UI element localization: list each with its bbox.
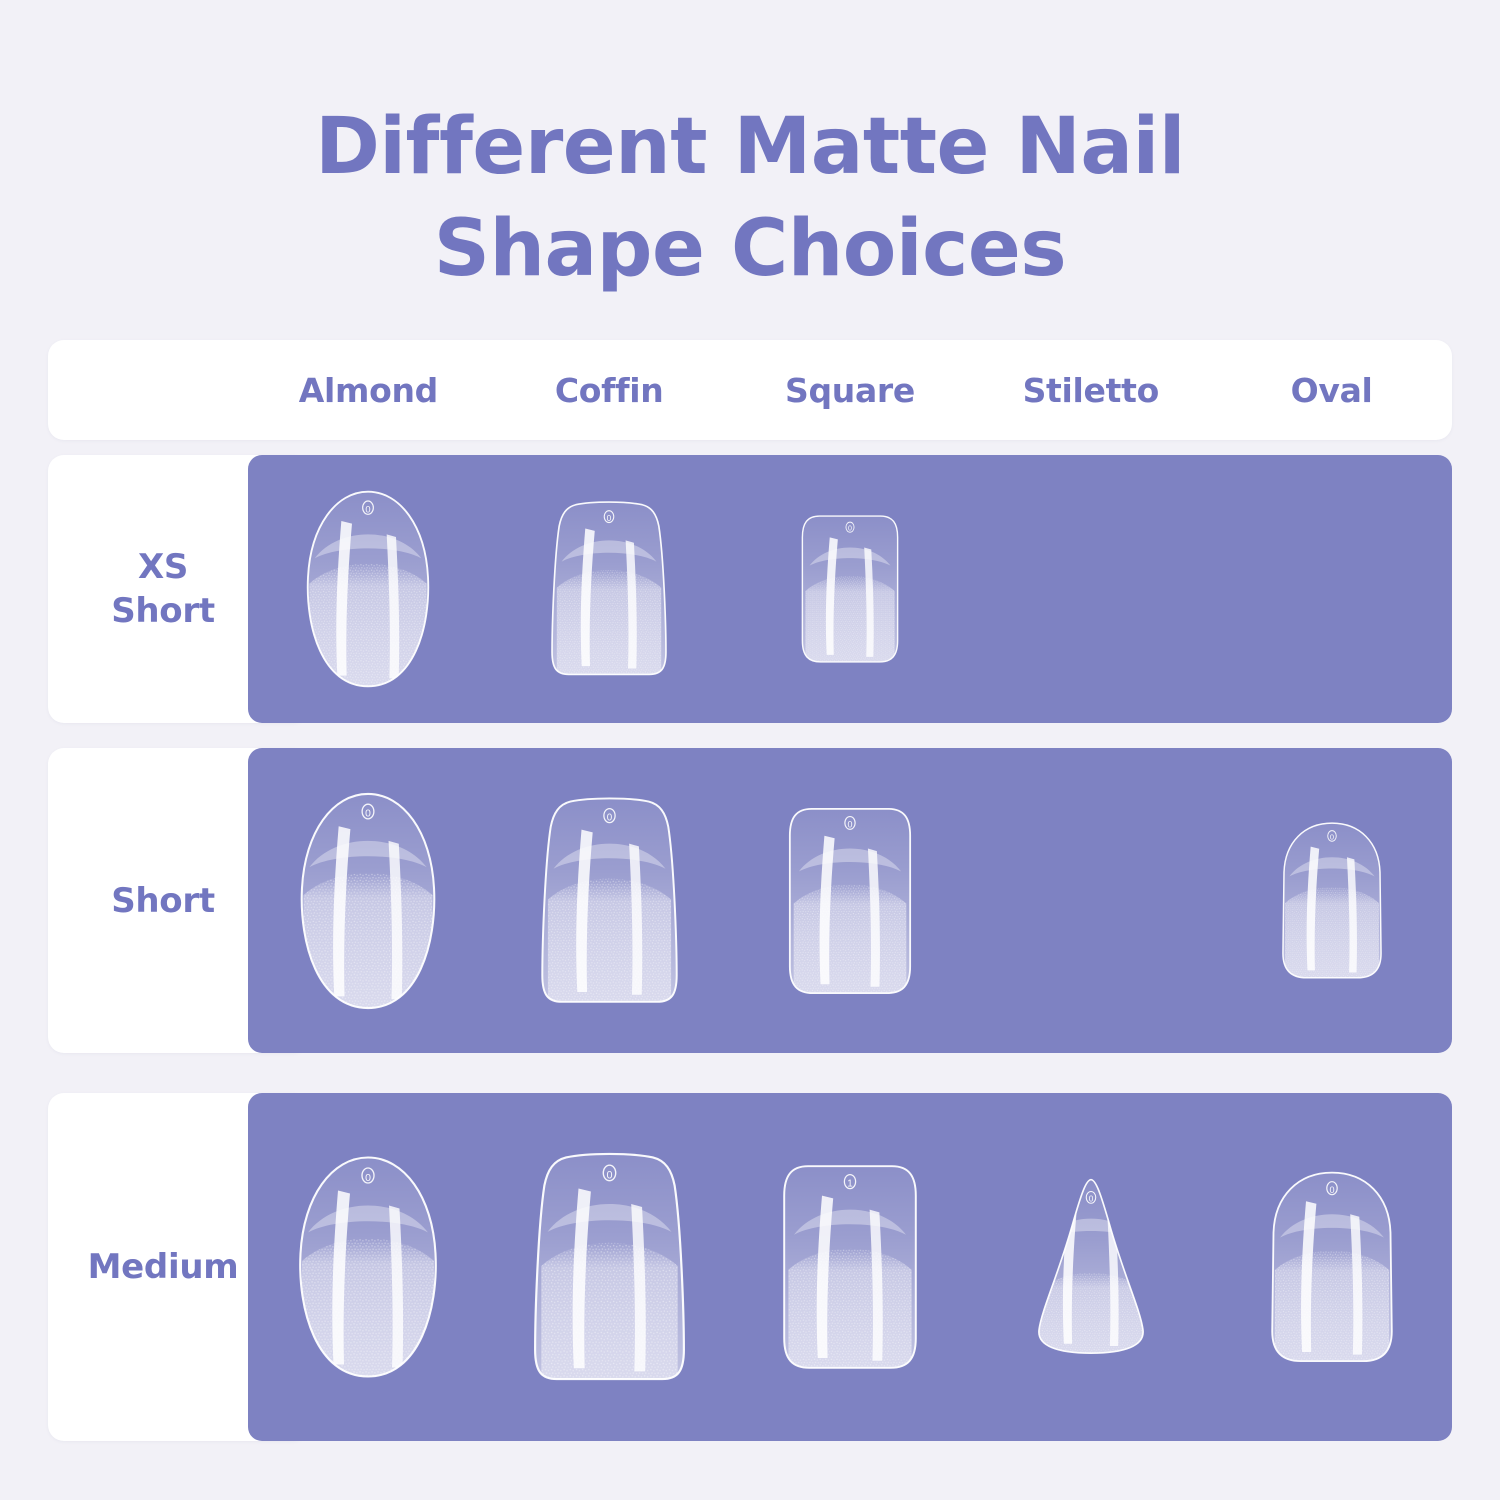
title-line-2: Shape Choices	[0, 198, 1500, 300]
nail-cell-xs-short-coffin: 0	[489, 455, 730, 723]
table-row-medium: Medium 0 0 1 0 0	[48, 1093, 1452, 1441]
column-header-card: Almond Coffin Square Stiletto Oval	[48, 340, 1452, 440]
nail-tip-coffin: 0	[537, 796, 682, 1006]
nail-size-marking: 0	[606, 812, 612, 823]
page-title: Different Matte Nail Shape Choices	[0, 96, 1500, 300]
nail-cell-short-oval: 0	[1211, 748, 1452, 1053]
nail-tip-square: 0	[786, 801, 914, 1001]
column-header-oval: Oval	[1211, 371, 1452, 410]
nail-tip-almond: 0	[288, 791, 448, 1011]
row-panel-short: 0 0 0 0	[248, 748, 1452, 1053]
nail-cell-medium-almond: 0	[248, 1093, 489, 1441]
row-label-xs-short: XS Short	[111, 545, 215, 633]
nail-tip-almond: 0	[293, 1142, 443, 1392]
infographic-page: Different Matte Nail Shape Choices Almon…	[0, 0, 1500, 1500]
nail-size-marking: 0	[1330, 832, 1334, 841]
nail-size-marking: 0	[1088, 1195, 1093, 1204]
nail-cell-medium-oval: 0	[1211, 1093, 1452, 1441]
nail-size-marking: 0	[606, 1169, 612, 1181]
nail-size-marking: 0	[848, 525, 852, 533]
nail-tip-almond: 0	[293, 489, 443, 689]
nail-cell-medium-stiletto: 0	[970, 1093, 1211, 1441]
nail-tip-coffin: 0	[545, 500, 673, 678]
nail-size-marking: 1	[847, 1179, 852, 1190]
table-row-short: Short 0 0 0 0	[48, 748, 1452, 1053]
row-panel-medium: 0 0 1 0 0	[248, 1093, 1452, 1441]
nail-cell-xs-short-square: 0	[730, 455, 971, 723]
row-label-short: Short	[111, 879, 215, 923]
nail-cell-short-square: 0	[730, 748, 971, 1053]
column-header-almond: Almond	[248, 371, 489, 410]
nail-size-marking: 0	[607, 513, 612, 523]
title-line-1: Different Matte Nail	[0, 96, 1500, 198]
column-header-coffin: Coffin	[489, 371, 730, 410]
column-header-square: Square	[730, 371, 971, 410]
nail-tip-oval: 0	[1273, 821, 1391, 981]
nail-size-marking: 0	[366, 504, 371, 514]
nail-cell-xs-short-almond: 0	[248, 455, 489, 723]
nail-size-marking: 0	[365, 1172, 371, 1184]
nail-tip-square: 1	[780, 1147, 920, 1387]
row-panel-xs-short: 0 0 0	[248, 455, 1452, 723]
nail-size-marking: 0	[847, 819, 852, 829]
column-header-stiletto: Stiletto	[970, 371, 1211, 410]
row-label-medium: Medium	[88, 1245, 239, 1289]
nail-size-marking: 0	[366, 808, 372, 819]
nail-tip-oval: 0	[1267, 1150, 1397, 1385]
nail-cell-short-coffin: 0	[489, 748, 730, 1053]
nail-tip-square: 0	[794, 513, 906, 665]
nail-cell-short-almond: 0	[248, 748, 489, 1053]
nail-cell-medium-square: 1	[730, 1093, 971, 1441]
nail-tip-stiletto: 0	[1032, 1136, 1150, 1398]
nail-cell-medium-coffin: 0	[489, 1093, 730, 1441]
table-row-xs-short: XS Short 0 0 0	[48, 455, 1452, 723]
nail-size-marking: 0	[1329, 1184, 1334, 1194]
nail-tip-coffin: 0	[532, 1145, 687, 1390]
column-header-row: Almond Coffin Square Stiletto Oval	[248, 340, 1452, 440]
